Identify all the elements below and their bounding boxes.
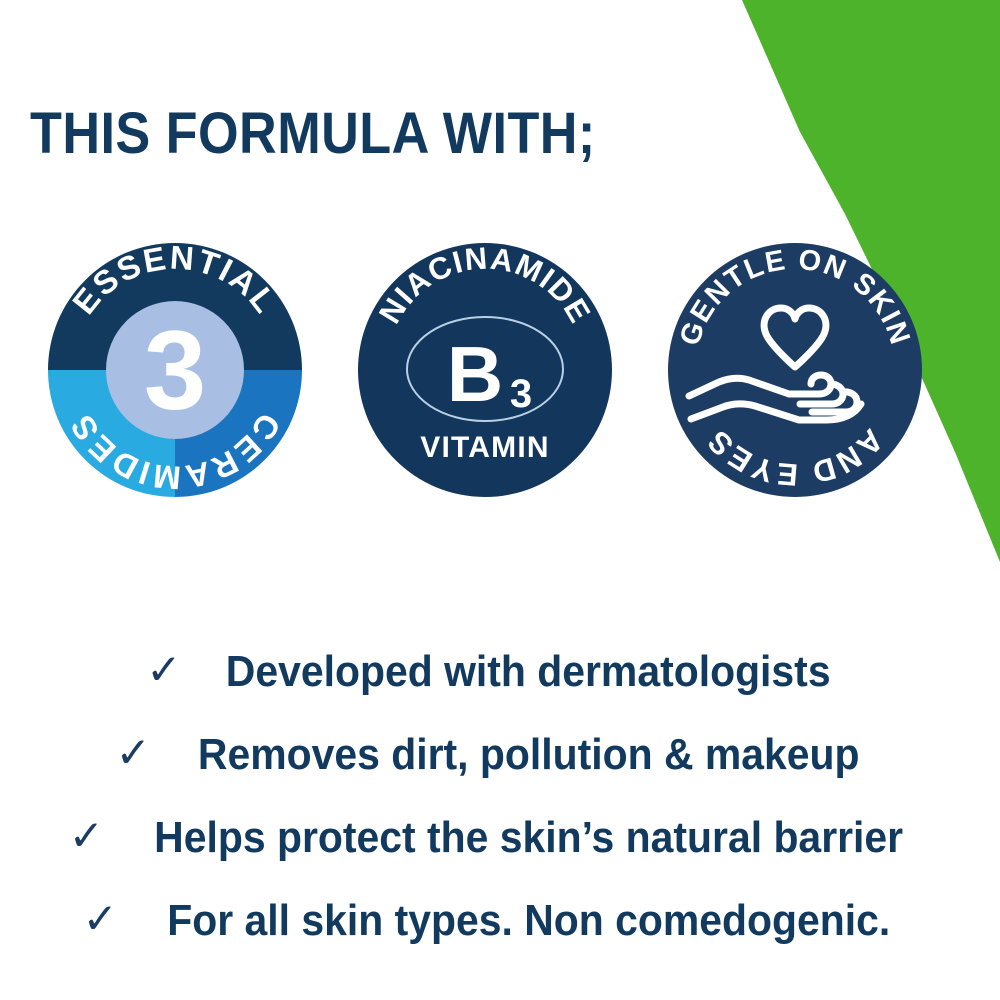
benefit-label: Helps protect the skin’s natural barrier: [154, 816, 903, 860]
benefit-item-1: ✓ Developed with dermatologists: [0, 630, 1000, 713]
check-icon: ✓: [146, 649, 181, 691]
benefits-list: ✓ Developed with dermatologists ✓ Remove…: [0, 630, 1000, 962]
badge-gentle-on-skin-and-eyes: GENTLE ON SKIN AND EYES: [667, 242, 923, 498]
badge2-center-letter: B: [447, 330, 503, 418]
badge-niacinamide-vitamin-b3: B 3 NIACINAMIDE VITAMIN: [357, 242, 613, 498]
check-icon: ✓: [116, 732, 151, 774]
benefit-label: For all skin types. Non comedogenic.: [167, 899, 890, 943]
badge2-center-subscript: 3: [510, 372, 532, 416]
benefit-label: Removes dirt, pollution & makeup: [198, 733, 860, 777]
badge2-bottom-label: VITAMIN: [420, 431, 550, 464]
ellipse-badge-icon: B 3 NIACINAMIDE VITAMIN: [357, 242, 613, 498]
badge-essential-3-ceramides: 3 ESSENTIAL CERAMIDES: [47, 242, 303, 498]
quadrant-circle-badge-icon: 3 ESSENTIAL CERAMIDES: [47, 242, 303, 498]
check-icon: ✓: [83, 898, 118, 940]
promo-graphic: THIS FORMULA WITH; 3: [0, 0, 1000, 1000]
benefit-item-3: ✓ Helps protect the skin’s natural barri…: [0, 796, 1000, 879]
benefit-item-4: ✓ For all skin types. Non comedogenic.: [0, 879, 1000, 962]
heart-in-hand-badge-icon: GENTLE ON SKIN AND EYES: [667, 242, 923, 498]
page-title: THIS FORMULA WITH;: [30, 103, 596, 165]
badge-row: 3 ESSENTIAL CERAMIDES: [0, 232, 1000, 500]
badge1-center-number: 3: [144, 308, 206, 433]
benefit-item-2: ✓ Removes dirt, pollution & makeup: [0, 713, 1000, 796]
benefit-label: Developed with dermatologists: [226, 650, 831, 694]
check-icon: ✓: [69, 815, 104, 857]
